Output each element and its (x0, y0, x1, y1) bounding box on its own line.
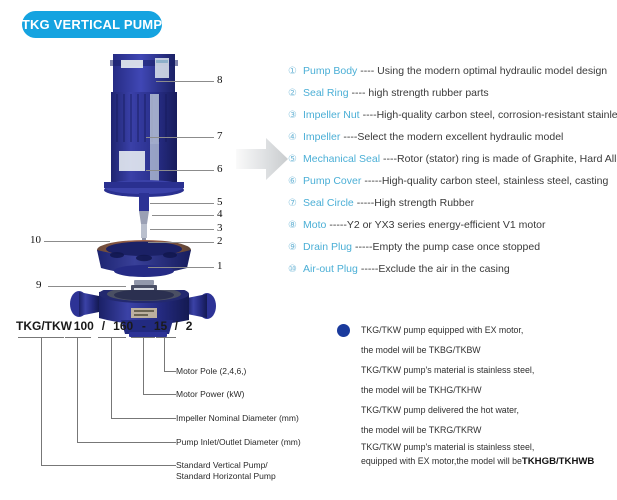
variant-note-line-final: equipped with EX motor,the model will be… (361, 454, 612, 468)
callout-line-5 (150, 203, 214, 204)
part-number: ⑤ (288, 154, 303, 165)
variant-note-line: the model will be TKBG/TKBW (361, 340, 612, 360)
callout-line-7 (146, 137, 214, 138)
page-title-banner: TKG VERTICAL PUMP (22, 11, 162, 38)
code-segment-series: TKG/TKW (16, 319, 70, 333)
part-description: ----Rotor (stator) ring is made of Graph… (383, 153, 617, 165)
callout-number-10: 10 (30, 234, 41, 246)
part-description: -----Y2 or YX3 series energy-efficient V… (329, 219, 545, 231)
part-name: Mechanical Seal (303, 153, 380, 165)
part-name: Drain Plug (303, 241, 352, 253)
bullet-dot-icon (337, 324, 350, 337)
callout-line-2 (148, 242, 214, 243)
part-row: ① Pump Body ---- Using the modern optima… (288, 60, 613, 82)
part-number: ③ (288, 110, 303, 121)
part-row: ② Seal Ring ---- high strength rubber pa… (288, 82, 613, 104)
nom-label-series-2: Standard Horizontal Pump (176, 471, 276, 482)
code-segment-power: 15 (151, 319, 171, 333)
part-description: -----High strength Rubber (357, 197, 474, 209)
part-row: ⑥ Pump Cover -----High-quality carbon st… (288, 170, 613, 192)
part-row: ⑩ Air-out Plug -----Exclude the air in t… (288, 258, 613, 280)
part-name: Seal Ring (303, 87, 349, 99)
nom-underline-inlet (65, 337, 91, 338)
code-separator-slash-1: / (98, 319, 110, 333)
code-segment-impeller: 160 (109, 319, 137, 333)
callout-number-3: 3 (217, 222, 223, 234)
callout-line-4 (152, 215, 214, 216)
part-row: ⑦ Seal Circle -----High strength Rubber (288, 192, 613, 214)
variant-note-line: TKG/TKW pump's material is stainless ste… (361, 360, 612, 380)
variant-note-model: TKHGB/TKHWB (522, 456, 594, 467)
part-row: ③ Impeller Nut ----High-quality carbon s… (288, 104, 613, 126)
variant-note-line: TKG/TKW pump equipped with EX motor, (361, 320, 612, 340)
nom-drop-inlet (77, 337, 78, 442)
nom-drop-impeller (111, 337, 112, 418)
nom-drop-pole (164, 337, 165, 371)
nom-leader-power (143, 394, 176, 395)
nom-label-series-1: Standard Vertical Pump/ (176, 460, 268, 471)
callout-number-4: 4 (217, 208, 223, 220)
part-number: ⑦ (288, 198, 303, 209)
variant-note-line: the model will be TKRG/TKRW (361, 420, 612, 440)
part-number: ④ (288, 132, 303, 143)
part-row: ④ Impeller ----Select the modern excelle… (288, 126, 613, 148)
callout-number-9: 9 (36, 279, 42, 291)
part-number: ⑨ (288, 242, 303, 253)
page-title: TKG VERTICAL PUMP (22, 17, 162, 32)
part-row: ⑤ Mechanical Seal ----Rotor (stator) rin… (288, 148, 613, 170)
nom-leader-pole (164, 371, 176, 372)
parts-description-list: ① Pump Body ---- Using the modern optima… (288, 60, 613, 280)
part-name: Air-out Plug (303, 263, 358, 275)
part-name: Pump Body (303, 65, 357, 77)
callout-line-10 (44, 241, 110, 242)
part-description: ---- Using the modern optimal hydraulic … (360, 65, 607, 77)
callout-number-5: 5 (217, 196, 223, 208)
part-number: ⑩ (288, 264, 303, 275)
nom-label-pole: Motor Pole (2,4,6,) (176, 366, 246, 377)
callout-line-3 (150, 229, 214, 230)
callout-number-8: 8 (217, 74, 223, 86)
callout-number-2: 2 (217, 235, 223, 247)
nom-label-power: Motor Power (kW) (176, 389, 244, 400)
callout-line-6 (146, 170, 214, 171)
variant-note-line: TKG/TKW pump's material is stainless ste… (361, 440, 612, 454)
part-number: ② (288, 88, 303, 99)
variant-note-line: the model will be TKHG/TKHW (361, 380, 612, 400)
part-name: Moto (303, 219, 326, 231)
variant-note-prefix: equipped with EX motor,the model will be (361, 456, 522, 466)
part-name: Seal Circle (303, 197, 354, 209)
code-segment-inlet: 100 (70, 319, 98, 333)
part-description: -----High-quality carbon steel, stainles… (364, 175, 608, 187)
callout-number-1: 1 (217, 260, 223, 272)
part-name: Impeller (303, 131, 340, 143)
callout-line-8 (156, 81, 214, 82)
flow-arrow-icon (236, 137, 288, 181)
nom-leader-inlet (77, 442, 176, 443)
part-description: ----Select the modern excellent hydrauli… (343, 131, 563, 143)
nom-drop-power (143, 337, 144, 394)
part-name: Impeller Nut (303, 109, 360, 121)
model-code: TKG/TKW 100 / 160 - 15 / 2 (16, 318, 196, 334)
part-name: Pump Cover (303, 175, 361, 187)
exploded-pump-illustration (55, 52, 235, 302)
part-number: ① (288, 66, 303, 77)
part-description: ---- high strength rubber parts (352, 87, 489, 99)
part-number: ⑥ (288, 176, 303, 187)
callout-number-7: 7 (217, 130, 223, 142)
nom-leader-series (41, 465, 176, 466)
code-separator-dash: - (137, 319, 151, 333)
code-separator-slash-2: / (170, 319, 182, 333)
nom-underline-impeller (98, 337, 126, 338)
callout-line-9 (48, 286, 126, 287)
part-number: ⑧ (288, 220, 303, 231)
code-segment-pole: 2 (182, 319, 196, 333)
part-row: ⑧ Moto -----Y2 or YX3 series energy-effi… (288, 214, 613, 236)
nom-drop-series (41, 337, 42, 465)
nom-leader-impeller (111, 418, 176, 419)
part-description: -----Empty the pump case once stopped (355, 241, 540, 253)
part-description: ----High-quality carbon steel, corrosion… (363, 109, 617, 121)
part-description: -----Exclude the air in the casing (361, 263, 510, 275)
nom-label-impeller: Impeller Nominal Diameter (mm) (176, 413, 299, 424)
callout-number-6: 6 (217, 163, 223, 175)
part-row: ⑨ Drain Plug -----Empty the pump case on… (288, 236, 613, 258)
nom-underline-pole (156, 337, 176, 338)
variant-note-line: TKG/TKW pump delivered the hot water, (361, 400, 612, 420)
nom-label-inlet: Pump Inlet/Outlet Diameter (mm) (176, 437, 301, 448)
model-variant-notes: TKG/TKW pump equipped with EX motor, the… (337, 320, 612, 468)
model-nomenclature-diagram: TKG/TKW 100 / 160 - 15 / 2 Motor Pole (2… (0, 308, 330, 498)
callout-line-1 (148, 267, 214, 268)
